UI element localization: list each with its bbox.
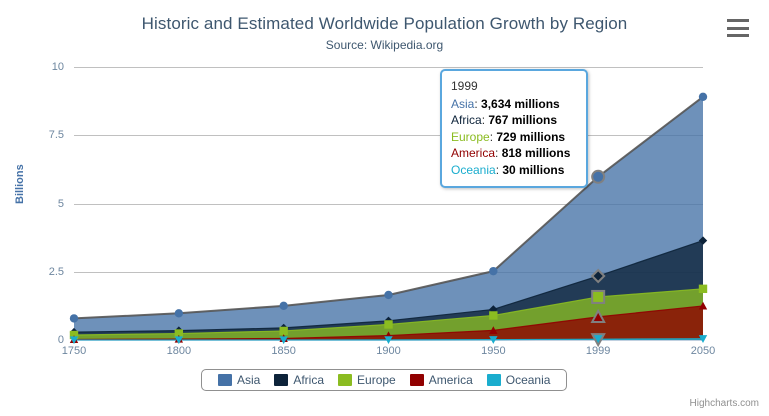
marker-asia[interactable]	[70, 314, 78, 322]
y-tick-label: 5	[4, 198, 64, 210]
tooltip-series-name: Europe	[451, 130, 490, 144]
tooltip-row: America: 818 millions	[451, 145, 577, 162]
legend-label: Asia	[237, 373, 260, 387]
tooltip-row: Africa: 767 millions	[451, 112, 577, 129]
marker-europe[interactable]	[592, 291, 604, 303]
marker-asia[interactable]	[175, 309, 183, 317]
tooltip-row: Oceania: 30 millions	[451, 162, 577, 179]
marker-europe[interactable]	[699, 285, 707, 293]
highcharts-container: Historic and Estimated Worldwide Populat…	[0, 0, 769, 416]
legend-swatch-asia	[218, 374, 232, 386]
tooltip-series-name: America	[451, 146, 495, 160]
legend-label: Europe	[357, 373, 396, 387]
menu-bar-1	[727, 19, 749, 22]
tooltip-series-value: 30 millions	[502, 163, 564, 177]
x-tick-label: 1900	[376, 345, 400, 357]
tooltip-series-name: Asia	[451, 97, 474, 111]
tooltip-series-value: 3,634 millions	[481, 97, 560, 111]
tooltip-series-value: 818 millions	[502, 146, 571, 160]
tooltip-rows: Asia: 3,634 millionsAfrica: 767 millions…	[451, 96, 577, 179]
y-tick-label: 10	[4, 61, 64, 73]
x-tick-label: 1750	[62, 345, 86, 357]
tooltip-series-value: 729 millions	[496, 130, 565, 144]
tooltip-separator: :	[474, 97, 481, 111]
tooltip-row: Asia: 3,634 millions	[451, 96, 577, 113]
legend-item-europe[interactable]: Europe	[338, 373, 396, 387]
credits-label[interactable]: Highcharts.com	[690, 398, 759, 409]
chart-legend: AsiaAfricaEuropeAmericaOceania	[201, 369, 567, 391]
marker-asia[interactable]	[489, 267, 497, 275]
tooltip-row: Europe: 729 millions	[451, 129, 577, 146]
series-layer	[74, 67, 703, 340]
legend-label: Oceania	[506, 373, 551, 387]
tooltip-separator: :	[495, 146, 502, 160]
x-tick-label: 1850	[271, 345, 295, 357]
marker-europe[interactable]	[384, 320, 392, 328]
x-tick-label: 1950	[481, 345, 505, 357]
marker-asia[interactable]	[592, 171, 604, 183]
legend-swatch-america	[410, 374, 424, 386]
legend-swatch-europe	[338, 374, 352, 386]
hamburger-menu-icon[interactable]	[727, 18, 751, 38]
legend-item-america[interactable]: America	[410, 373, 473, 387]
legend-item-oceania[interactable]: Oceania	[487, 373, 551, 387]
y-tick-label: 0	[4, 334, 64, 346]
marker-europe[interactable]	[489, 311, 497, 319]
x-tick-label: 1800	[167, 345, 191, 357]
marker-europe[interactable]	[279, 327, 287, 335]
menu-bar-3	[727, 34, 749, 37]
marker-asia[interactable]	[279, 302, 287, 310]
marker-asia[interactable]	[699, 93, 707, 101]
legend-item-asia[interactable]: Asia	[218, 373, 260, 387]
tooltip-series-name: Africa	[451, 113, 482, 127]
chart-subtitle: Source: Wikipedia.org	[0, 38, 769, 52]
x-tick-label: 2050	[691, 345, 715, 357]
chart-title: Historic and Estimated Worldwide Populat…	[0, 14, 769, 34]
legend-swatch-africa	[274, 374, 288, 386]
tooltip-header: 1999	[451, 78, 577, 95]
legend-item-africa[interactable]: Africa	[274, 373, 324, 387]
y-tick-label: 2.5	[4, 266, 64, 278]
tooltip: 1999 Asia: 3,634 millionsAfrica: 767 mil…	[440, 69, 588, 188]
tooltip-series-value: 767 millions	[488, 113, 557, 127]
tooltip-series-name: Oceania	[451, 163, 496, 177]
legend-label: Africa	[293, 373, 324, 387]
marker-asia[interactable]	[384, 291, 392, 299]
y-tick-label: 7.5	[4, 129, 64, 141]
plot-area	[74, 67, 703, 340]
legend-swatch-oceania	[487, 374, 501, 386]
legend-label: America	[429, 373, 473, 387]
menu-bar-2	[727, 27, 749, 30]
